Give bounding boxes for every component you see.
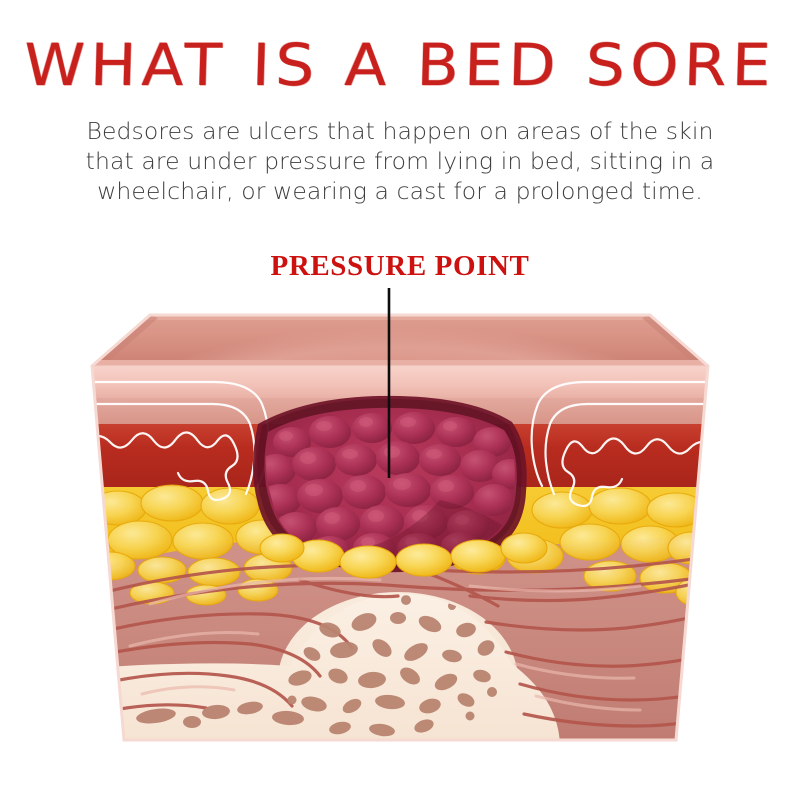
skin-block xyxy=(80,310,720,768)
skin-cross-section-diagram xyxy=(0,0,800,800)
infographic-canvas: WHAT IS A BED SORE Bedsores are ulcers t… xyxy=(0,0,800,800)
